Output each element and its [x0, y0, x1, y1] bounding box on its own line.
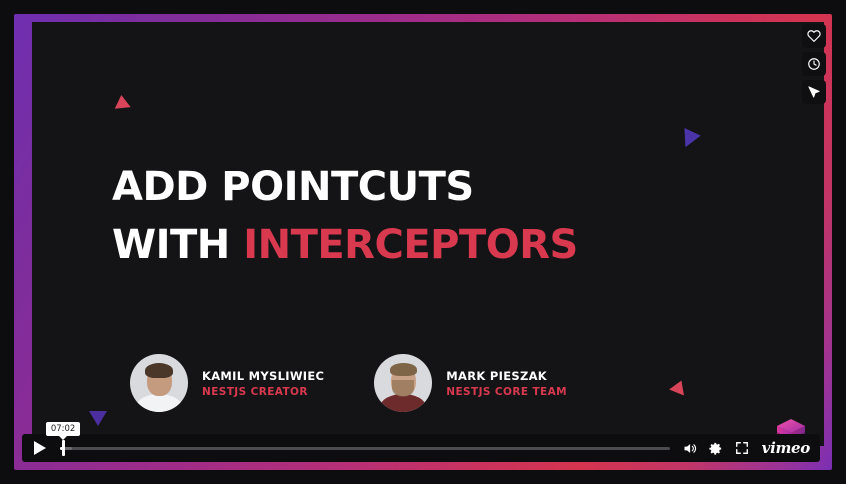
speaker-card: MARK PIESZAK NESTJS CORE TEAM	[374, 354, 567, 412]
title-line-2-prefix: WITH	[112, 222, 243, 268]
right-controls[interactable]: vimeo	[670, 439, 820, 457]
vimeo-player[interactable]: ADD POINTCUTS WITH INTERCEPTORS KAMIL MY…	[0, 0, 846, 484]
speaker-role: NESTJS CREATOR	[202, 386, 324, 398]
decorative-triangle-red-top	[113, 94, 130, 109]
speaker-text: MARK PIESZAK NESTJS CORE TEAM	[446, 369, 567, 398]
gear-icon	[708, 441, 723, 456]
clock-icon	[807, 57, 821, 71]
settings-button[interactable]	[708, 440, 724, 456]
vimeo-logo[interactable]: vimeo	[762, 439, 810, 457]
scrubber-handle[interactable]: 07:02	[62, 440, 65, 456]
avatar-body	[136, 394, 182, 412]
video-action-buttons[interactable]	[802, 24, 826, 104]
gradient-border-frame: ADD POINTCUTS WITH INTERCEPTORS KAMIL MY…	[14, 14, 832, 470]
progress-bar[interactable]: 07:02	[60, 434, 670, 462]
speaker-text: KAMIL MYSLIWIEC NESTJS CREATOR	[202, 369, 324, 398]
play-button[interactable]	[22, 434, 58, 462]
fullscreen-button[interactable]	[734, 440, 750, 456]
speaker-name: KAMIL MYSLIWIEC	[202, 369, 324, 383]
speaker-card: KAMIL MYSLIWIEC NESTJS CREATOR	[130, 354, 324, 412]
time-tooltip: 07:02	[46, 422, 81, 436]
progress-track[interactable]: 07:02	[60, 447, 670, 450]
title-line-2: WITH INTERCEPTORS	[112, 225, 578, 265]
avatar-hair	[390, 363, 417, 376]
decorative-triangle-purple-right	[677, 128, 700, 151]
heart-icon	[807, 29, 821, 43]
slide-title: ADD POINTCUTS WITH INTERCEPTORS	[112, 167, 578, 265]
fullscreen-icon	[735, 441, 749, 455]
avatar	[374, 354, 432, 412]
share-button[interactable]	[802, 80, 826, 104]
play-icon	[34, 441, 46, 455]
volume-icon	[682, 441, 697, 456]
decorative-triangle-purple-bottom	[89, 411, 107, 426]
video-stage[interactable]: ADD POINTCUTS WITH INTERCEPTORS KAMIL MY…	[32, 22, 824, 446]
speaker-name: MARK PIESZAK	[446, 369, 567, 383]
title-line-2-accent: INTERCEPTORS	[243, 222, 578, 268]
like-button[interactable]	[802, 24, 826, 48]
title-line-1: ADD POINTCUTS	[112, 167, 578, 207]
volume-button[interactable]	[682, 440, 698, 456]
speakers-row: KAMIL MYSLIWIEC NESTJS CREATOR MARK PIES…	[130, 354, 567, 412]
avatar	[130, 354, 188, 412]
speaker-role: NESTJS CORE TEAM	[446, 386, 567, 398]
share-icon	[807, 85, 821, 99]
player-control-bar[interactable]: 07:02	[22, 434, 820, 462]
decorative-triangle-red-bottom	[669, 377, 689, 395]
avatar-hair	[145, 363, 173, 378]
watch-later-button[interactable]	[802, 52, 826, 76]
